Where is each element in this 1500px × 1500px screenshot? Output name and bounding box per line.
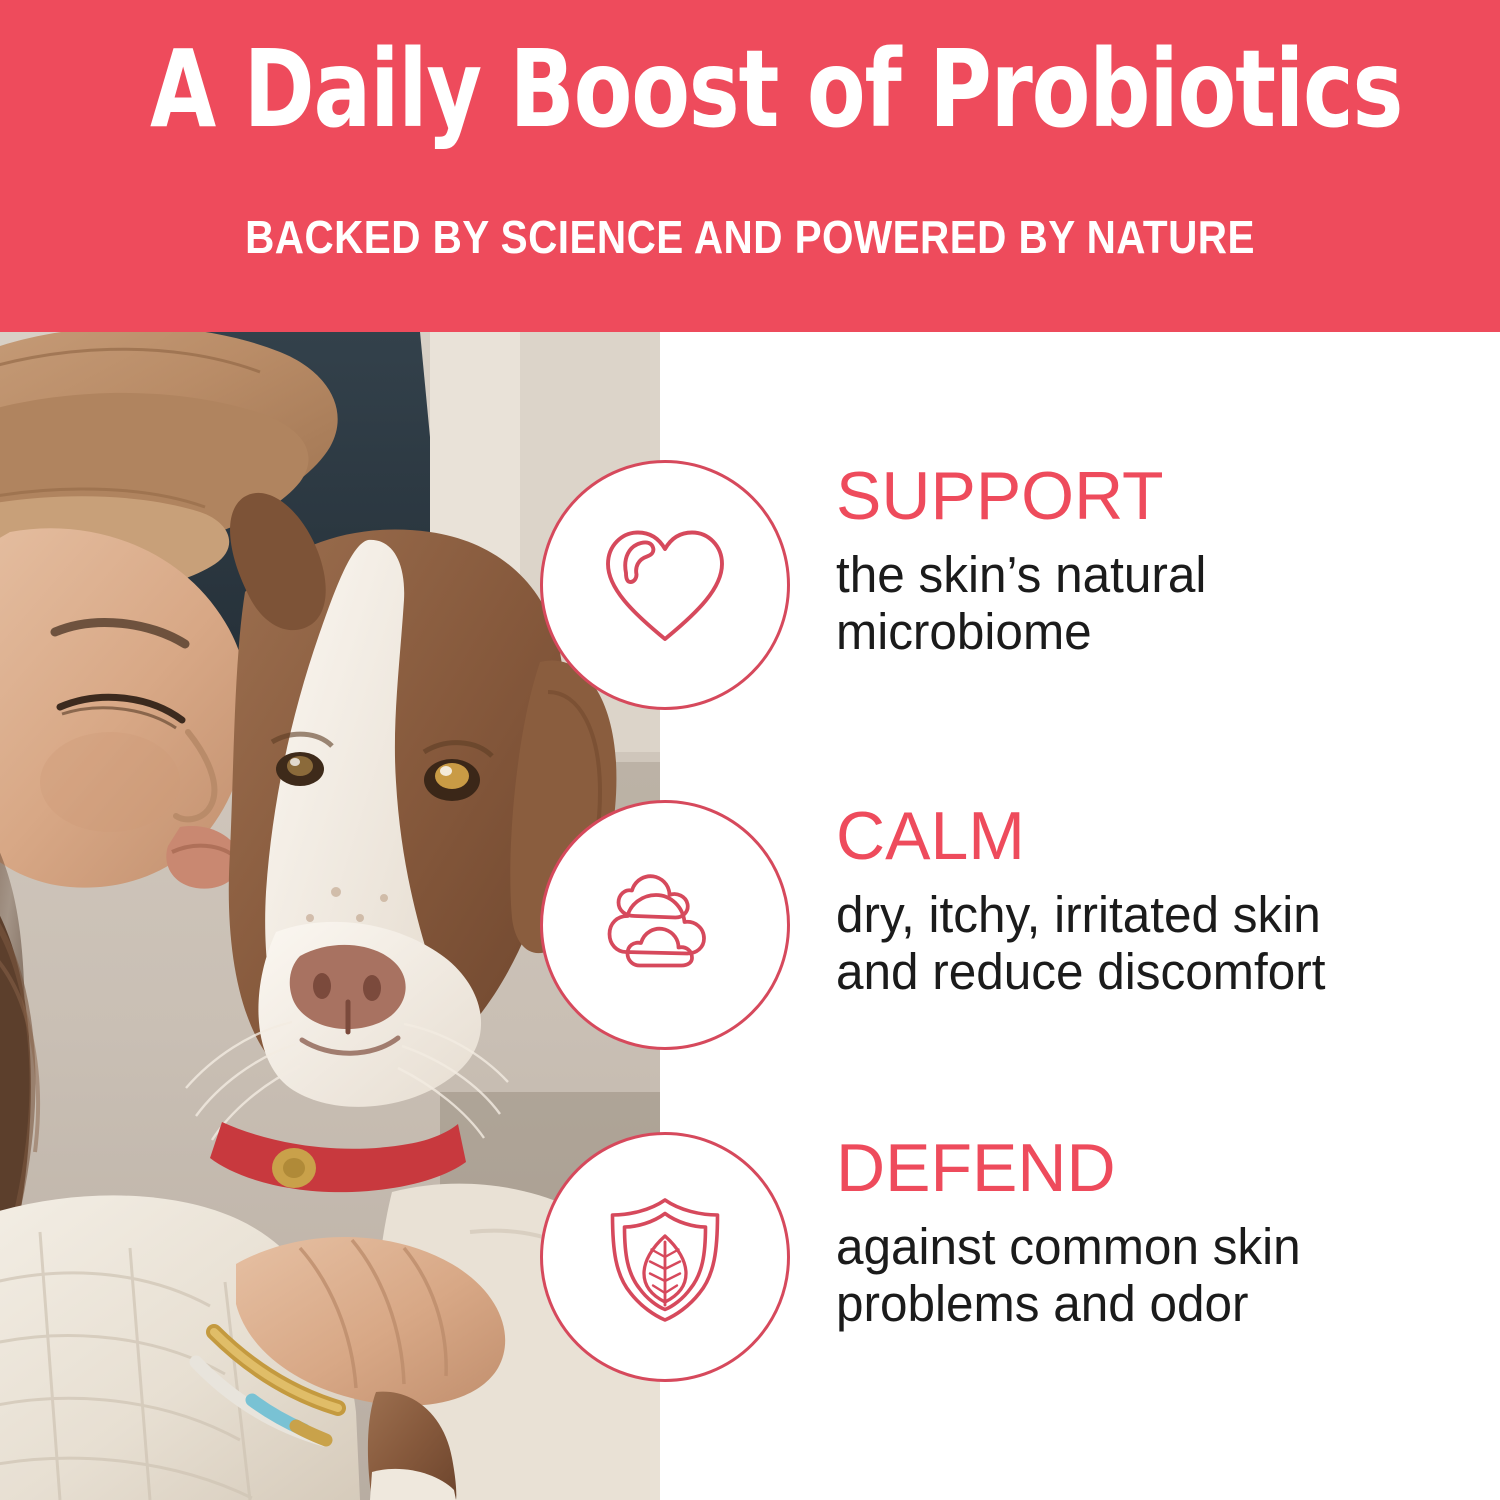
benefit-desc-calm: dry, itchy, irritated skin and reduce di… xyxy=(836,886,1457,1000)
page-subtitle: BACKED BY SCIENCE AND POWERED BY NATURE xyxy=(90,212,1410,263)
header-banner: A Daily Boost of Probiotics BACKED BY SC… xyxy=(0,0,1500,332)
benefit-item-defend: DEFEND against common skin problems and … xyxy=(0,1132,1500,1382)
benefit-title-support: SUPPORT xyxy=(836,462,1476,530)
benefit-text-defend: DEFEND against common skin problems and … xyxy=(836,1134,1476,1332)
benefit-desc-line: and reduce discomfort xyxy=(836,943,1457,1000)
benefit-desc-line: against common skin xyxy=(836,1218,1457,1275)
benefit-desc-support: the skin’s natural microbiome xyxy=(836,546,1457,660)
benefit-desc-line: problems and odor xyxy=(836,1275,1457,1332)
page-title: A Daily Boost of Probiotics xyxy=(150,36,1350,145)
benefit-item-calm: CALM dry, itchy, irritated skin and redu… xyxy=(0,800,1500,1050)
benefit-item-support: SUPPORT the skin’s natural microbiome xyxy=(0,460,1500,710)
benefit-desc-line: microbiome xyxy=(836,603,1457,660)
benefit-title-calm: CALM xyxy=(836,802,1476,870)
clouds-icon xyxy=(590,850,740,1000)
benefit-icon-circle-defend xyxy=(540,1132,790,1382)
benefit-icon-circle-support xyxy=(540,460,790,710)
shield-leaf-icon xyxy=(590,1182,740,1332)
heart-icon xyxy=(590,510,740,660)
infographic-page: A Daily Boost of Probiotics BACKED BY SC… xyxy=(0,0,1500,1500)
benefit-text-support: SUPPORT the skin’s natural microbiome xyxy=(836,462,1476,660)
benefit-desc-line: the skin’s natural xyxy=(836,546,1457,603)
benefit-text-calm: CALM dry, itchy, irritated skin and redu… xyxy=(836,802,1476,1000)
benefit-desc-line: dry, itchy, irritated skin xyxy=(836,886,1457,943)
benefit-desc-defend: against common skin problems and odor xyxy=(836,1218,1457,1332)
benefit-icon-circle-calm xyxy=(540,800,790,1050)
benefit-title-defend: DEFEND xyxy=(836,1134,1476,1202)
